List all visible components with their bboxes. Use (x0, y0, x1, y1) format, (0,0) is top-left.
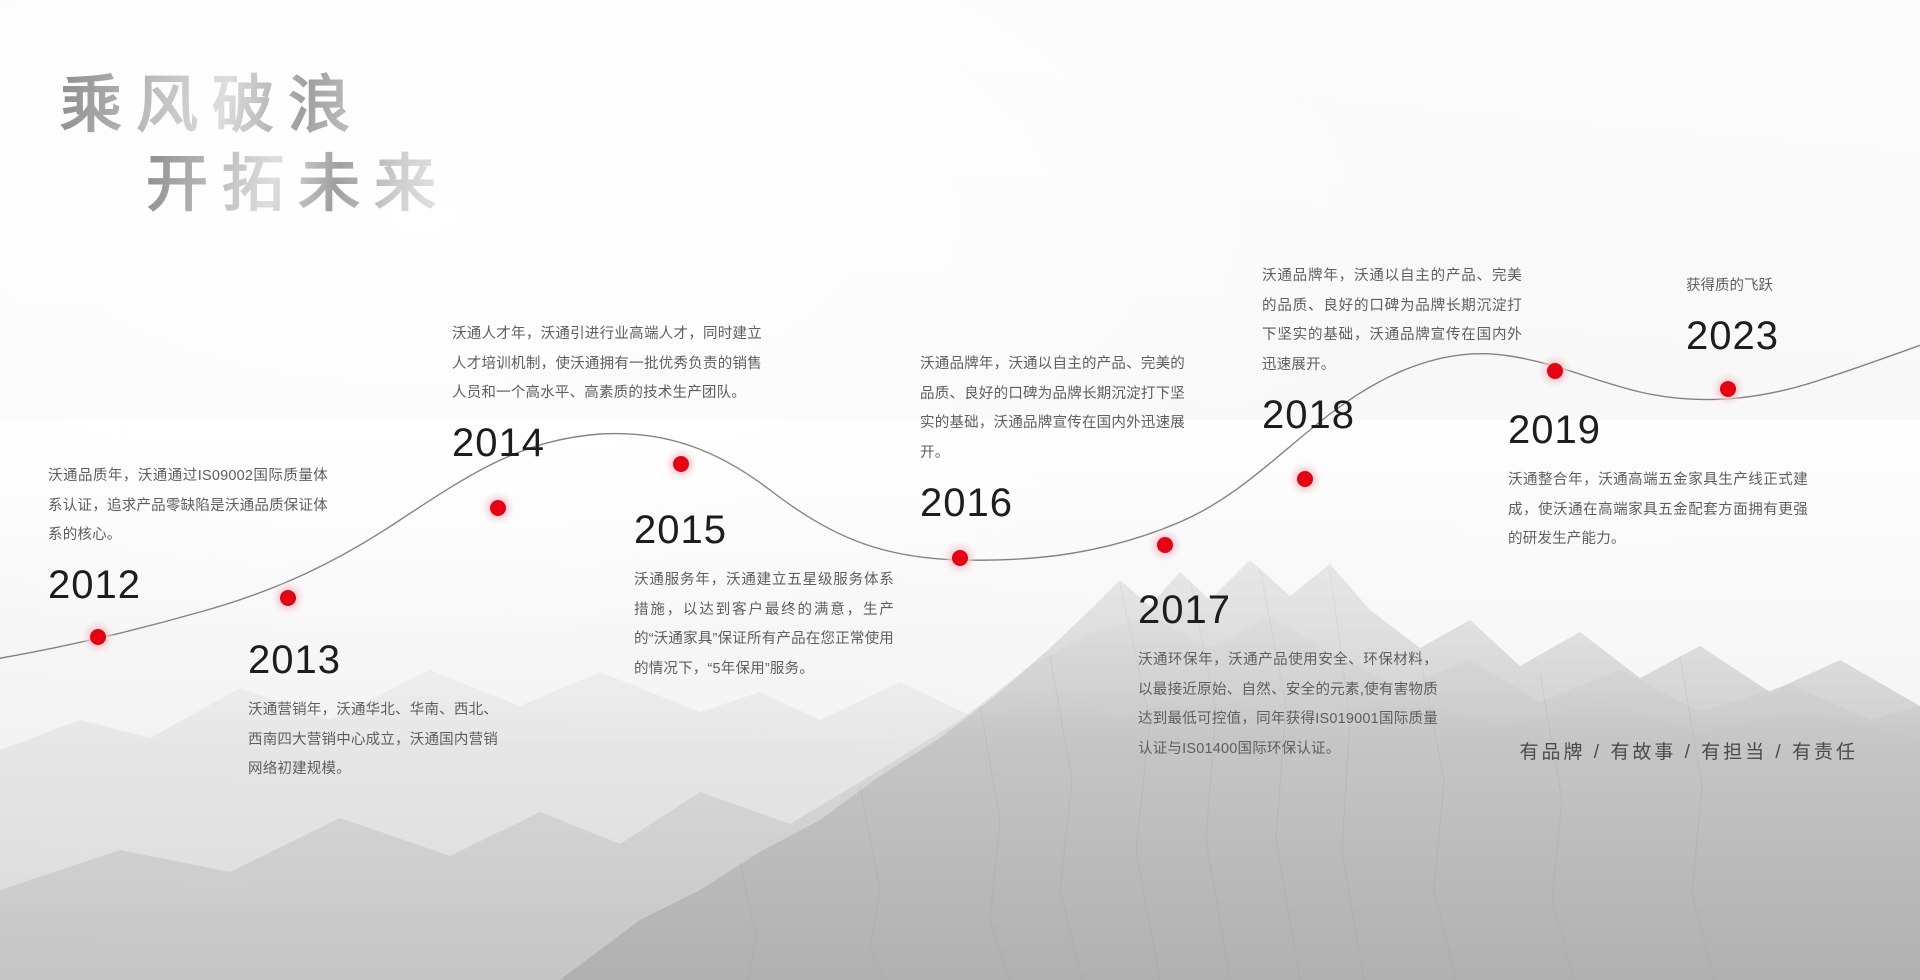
milestone-2012-description: 沃通品质年，沃通通过IS09002国际质量体系认证，追求产品零缺陷是沃通品质保证… (48, 462, 328, 551)
milestone-2018: 沃通品牌年，沃通以自主的产品、完美的品质、良好的口碑为品牌长期沉淀打下坚实的基础… (1262, 262, 1522, 435)
milestone-2017-year: 2017 (1138, 590, 1438, 630)
milestone-2017-description: 沃通环保年，沃通产品使用安全、环保材料，以最接近原始、自然、安全的元素,使有害物… (1138, 646, 1438, 765)
milestone-2023: 获得质的飞跃 2023 (1686, 272, 1906, 356)
headline-line-2: 开拓未来 (146, 149, 450, 222)
milestone-2019: 2019 沃通整合年，沃通高端五金家具生产线正式建成，使沃通在高端家具五金配套方… (1508, 410, 1808, 555)
milestone-2013-description: 沃通营销年，沃通华北、华南、西北、西南四大营销中心成立，沃通国内营销网络初建规模… (248, 696, 498, 785)
milestone-2018-year: 2018 (1262, 395, 1522, 435)
headline-line-1: 乘风破浪 (60, 70, 450, 143)
milestone-2016-year: 2016 (920, 483, 1185, 523)
poster-canvas: 乘风破浪 开拓未来 (0, 0, 1920, 980)
milestone-2013: 2013 沃通营销年，沃通华北、华南、西北、西南四大营销中心成立，沃通国内营销网… (248, 640, 498, 785)
milestone-2014: 沃通人才年，沃通引进行业高端人才，同时建立人才培训机制，使沃通拥有一批优秀负责的… (452, 320, 762, 463)
footer-tagline: 有品牌 / 有故事 / 有担当 / 有责任 (1519, 737, 1858, 764)
milestone-2019-year: 2019 (1508, 410, 1808, 450)
milestone-2018-description: 沃通品牌年，沃通以自主的产品、完美的品质、良好的口碑为品牌长期沉淀打下坚实的基础… (1262, 262, 1522, 381)
milestone-2015: 2015 沃通服务年，沃通建立五星级服务体系措施，以达到客户最终的满意，生产的“… (634, 510, 894, 685)
milestone-2012: 沃通品质年，沃通通过IS09002国际质量体系认证，追求产品零缺陷是沃通品质保证… (48, 462, 328, 605)
milestone-2014-year: 2014 (452, 423, 762, 463)
milestone-2019-description: 沃通整合年，沃通高端五金家具生产线正式建成，使沃通在高端家具五金配套方面拥有更强… (1508, 466, 1808, 555)
milestone-2013-year: 2013 (248, 640, 498, 680)
milestone-2012-year: 2012 (48, 565, 328, 605)
page-title: 乘风破浪 开拓未来 (60, 70, 450, 222)
milestone-2016: 沃通品牌年，沃通以自主的产品、完美的品质、良好的口碑为品牌长期沉淀打下坚实的基础… (920, 350, 1185, 523)
milestone-2015-description: 沃通服务年，沃通建立五星级服务体系措施，以达到客户最终的满意，生产的“沃通家具”… (634, 566, 894, 685)
milestone-2023-subtitle: 获得质的飞跃 (1686, 272, 1906, 302)
milestone-2023-year: 2023 (1686, 316, 1906, 356)
milestone-2015-year: 2015 (634, 510, 894, 550)
milestone-2017: 2017 沃通环保年，沃通产品使用安全、环保材料，以最接近原始、自然、安全的元素… (1138, 590, 1438, 765)
milestone-2016-description: 沃通品牌年，沃通以自主的产品、完美的品质、良好的口碑为品牌长期沉淀打下坚实的基础… (920, 350, 1185, 469)
milestone-2014-description: 沃通人才年，沃通引进行业高端人才，同时建立人才培训机制，使沃通拥有一批优秀负责的… (452, 320, 762, 409)
